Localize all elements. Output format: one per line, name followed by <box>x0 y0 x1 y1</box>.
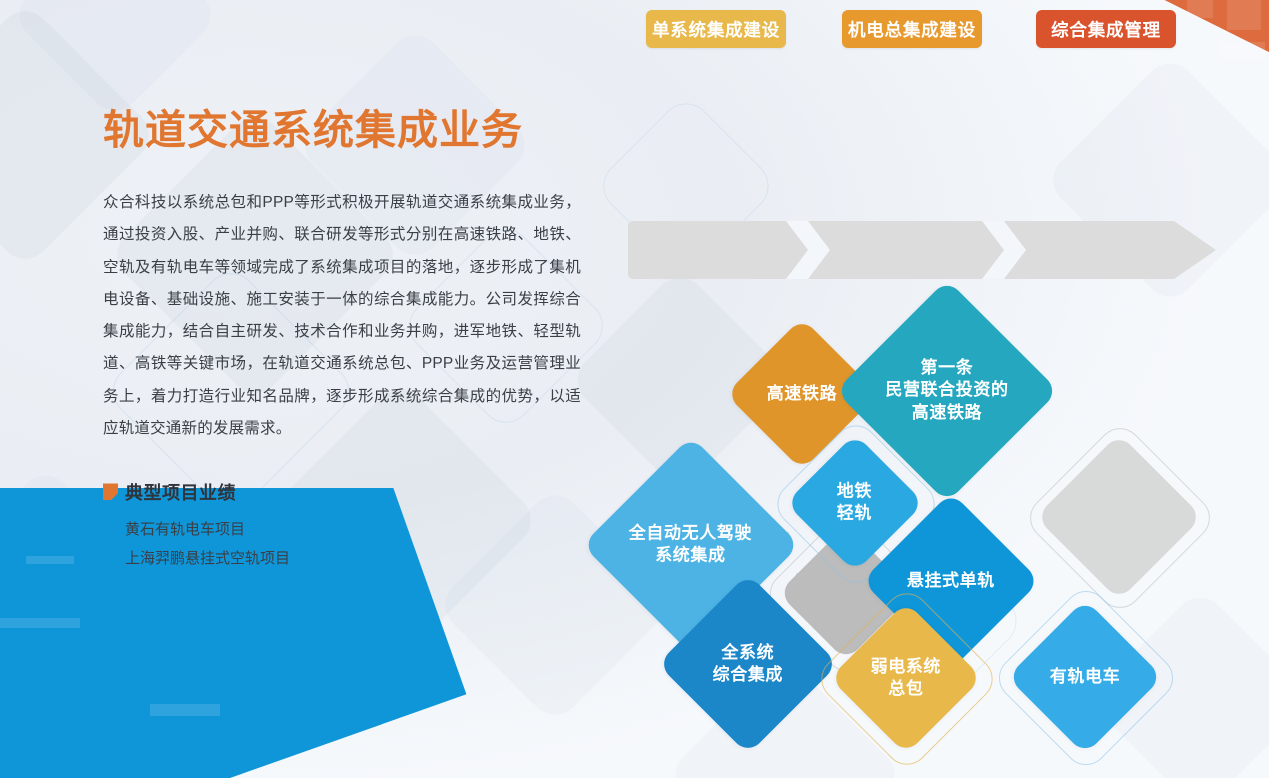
flag-icon <box>103 483 118 500</box>
progression-band <box>628 221 1216 279</box>
content-column: 轨道交通系统集成业务 众合科技以系统总包和PPP等形式积极开展轨道交通系统集成业… <box>103 108 603 573</box>
diamond-label: 全自动无人驾驶 系统集成 <box>629 523 752 568</box>
slide-canvas: 轨道交通系统集成业务 众合科技以系统总包和PPP等形式积极开展轨道交通系统集成业… <box>0 0 1269 778</box>
diamond-tram[interactable]: 有轨电车 <box>1007 599 1163 755</box>
diamond-label: 全系统 综合集成 <box>713 642 783 687</box>
intro-paragraph: 众合科技以系统总包和PPP等形式积极开展轨道交通系统集成业务，通过投资入股、产业… <box>103 187 581 445</box>
band-separator <box>982 221 1026 279</box>
section-heading-label: 典型项目业绩 <box>125 479 236 505</box>
page-title: 轨道交通系统集成业务 <box>103 108 603 153</box>
step-tab-1[interactable]: 单系统集成建设 <box>646 10 786 48</box>
project-item: 上海羿鹏悬挂式空轨项目 <box>125 544 603 573</box>
section-heading: 典型项目业绩 <box>103 479 603 505</box>
diamond-label: 地铁 轻轨 <box>837 481 872 526</box>
diamond-cluster: 高速铁路 第一条 民营联合投资的 高速铁路 全自动无人驾驶 系统集成 地铁 轻轨… <box>600 300 1269 778</box>
step-tab-2[interactable]: 机电总集成建设 <box>842 10 982 48</box>
diamond-label: 悬挂式单轨 <box>907 570 995 592</box>
diamond-label: 有轨电车 <box>1050 666 1120 688</box>
diamond-ring-right <box>1021 419 1219 617</box>
project-item: 黄石有轨电车项目 <box>125 515 603 544</box>
step-tab-3[interactable]: 综合集成管理 <box>1036 10 1176 48</box>
band-separator <box>786 221 830 279</box>
diamond-label: 弱电系统 总包 <box>871 656 941 701</box>
diamond-label: 高速铁路 <box>767 383 837 405</box>
diamond-label: 第一条 民营联合投资的 高速铁路 <box>885 357 1008 424</box>
